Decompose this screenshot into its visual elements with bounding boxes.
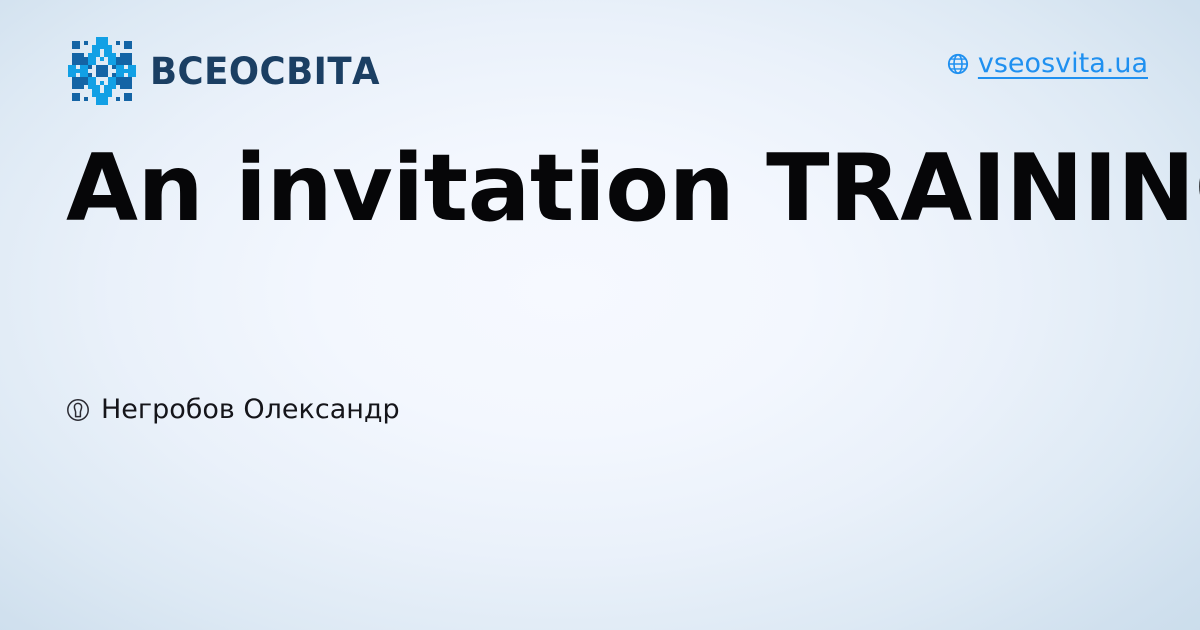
globe-icon bbox=[947, 53, 969, 75]
author-name: Негробов Олександр bbox=[101, 396, 400, 423]
author-byline: Негробов Олександр bbox=[66, 396, 400, 423]
site-url-text: vseosvita.ua bbox=[978, 50, 1148, 77]
embroidery-ornament-icon bbox=[68, 37, 136, 105]
header: ВСЕОСВІТА vseosvita.ua bbox=[68, 36, 1148, 106]
person-circle-icon bbox=[66, 398, 90, 422]
page-title: An invitation TRAINING bbox=[66, 139, 1156, 238]
brand-wordmark: ВСЕОСВІТА bbox=[150, 53, 380, 90]
brand-logo[interactable]: ВСЕОСВІТА bbox=[68, 36, 390, 106]
page-canvas: ВСЕОСВІТА vseosvita.ua An invitation TRA… bbox=[0, 0, 1200, 630]
site-url-link[interactable]: vseosvita.ua bbox=[947, 50, 1148, 77]
